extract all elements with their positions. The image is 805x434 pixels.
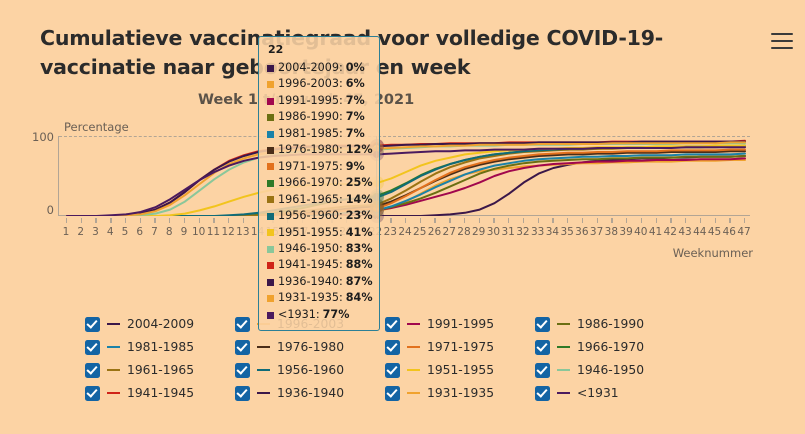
legend-item-1931-1935[interactable]: 1931-1935 bbox=[385, 382, 494, 404]
tooltip-row: 1961-1965:14% bbox=[267, 192, 372, 208]
x-tick-label: 11 bbox=[207, 226, 220, 238]
x-tick-mark bbox=[213, 218, 214, 223]
x-tick-mark bbox=[656, 218, 657, 223]
tooltip-color-swatch-icon bbox=[267, 312, 274, 319]
x-tick-mark bbox=[434, 218, 435, 223]
x-tick-mark bbox=[390, 218, 391, 223]
legend-item-lt1931[interactable]: <1931 bbox=[535, 382, 619, 404]
hover-tooltip: 22 2004-2009:0%1996-2003:6%1991-1995:7%1… bbox=[258, 36, 380, 331]
tooltip-row: 1936-1940:87% bbox=[267, 274, 372, 290]
tooltip-row: 1941-1945:88% bbox=[267, 257, 372, 273]
tooltip-series-name: 1931-1935: bbox=[278, 290, 343, 306]
tooltip-series-value: 88% bbox=[346, 257, 373, 273]
legend-item-label: 1946-1950 bbox=[577, 363, 644, 377]
tooltip-row: 1981-1985:7% bbox=[267, 126, 372, 142]
legend-item-1981-1985[interactable]: 1981-1985 bbox=[85, 336, 194, 358]
legend-checkbox[interactable] bbox=[385, 386, 400, 401]
tooltip-color-swatch-icon bbox=[267, 81, 274, 88]
tooltip-series-name: 1956-1960: bbox=[278, 208, 343, 224]
hamburger-icon[interactable] bbox=[771, 33, 793, 49]
x-tick-mark bbox=[405, 218, 406, 223]
tooltip-color-swatch-icon bbox=[267, 131, 274, 138]
x-tick-label: 33 bbox=[531, 226, 544, 238]
legend-item-1941-1945[interactable]: 1941-1945 bbox=[85, 382, 194, 404]
x-tick-mark bbox=[81, 218, 82, 223]
x-tick-mark bbox=[523, 218, 524, 223]
series-line bbox=[67, 158, 745, 216]
x-tick-mark bbox=[199, 218, 200, 223]
x-tick-mark bbox=[449, 218, 450, 223]
legend-color-swatch-icon bbox=[557, 323, 570, 325]
legend-color-swatch-icon bbox=[257, 392, 270, 394]
tooltip-series-value: 77% bbox=[323, 307, 350, 323]
legend-item-1946-1950[interactable]: 1946-1950 bbox=[535, 359, 644, 381]
x-tick-mark bbox=[582, 218, 583, 223]
tooltip-series-name: <1931: bbox=[278, 307, 320, 323]
x-tick-mark bbox=[597, 218, 598, 223]
x-tick-label: 44 bbox=[693, 226, 706, 238]
tooltip-series-name: 1971-1975: bbox=[278, 159, 343, 175]
tooltip-color-swatch-icon bbox=[267, 279, 274, 286]
tooltip-series-value: 41% bbox=[346, 225, 373, 241]
tooltip-series-value: 84% bbox=[346, 290, 373, 306]
legend-checkbox[interactable] bbox=[385, 317, 400, 332]
tooltip-series-name: 1986-1990: bbox=[278, 109, 343, 125]
x-tick-label: 34 bbox=[546, 226, 559, 238]
legend-color-swatch-icon bbox=[107, 323, 120, 325]
x-tick-label: 35 bbox=[560, 226, 573, 238]
tooltip-series-value: 7% bbox=[346, 126, 365, 142]
legend-checkbox[interactable] bbox=[385, 340, 400, 355]
tooltip-row: 1946-1950:83% bbox=[267, 241, 372, 257]
legend-item-label: <1931 bbox=[577, 386, 619, 400]
x-tick-label: 32 bbox=[516, 226, 529, 238]
x-tick-label: 31 bbox=[501, 226, 514, 238]
tooltip-series-name: 1976-1980: bbox=[278, 142, 343, 158]
tooltip-row: 1986-1990:7% bbox=[267, 109, 372, 125]
legend-item-1956-1960[interactable]: 1956-1960 bbox=[235, 359, 344, 381]
tooltip-color-swatch-icon bbox=[267, 65, 274, 72]
x-tick-mark bbox=[611, 218, 612, 223]
legend-item-label: 1971-1975 bbox=[427, 340, 494, 354]
legend-item-1961-1965[interactable]: 1961-1965 bbox=[85, 359, 194, 381]
legend-checkbox[interactable] bbox=[85, 386, 100, 401]
x-tick-mark bbox=[464, 218, 465, 223]
x-tick-label: 47 bbox=[737, 226, 750, 238]
x-tick-label: 28 bbox=[457, 226, 470, 238]
x-tick-mark bbox=[700, 218, 701, 223]
tooltip-series-name: 1996-2003: bbox=[278, 76, 343, 92]
tooltip-series-value: 9% bbox=[346, 159, 365, 175]
legend-color-swatch-icon bbox=[557, 392, 570, 394]
x-tick-label: 5 bbox=[122, 226, 129, 238]
legend-checkbox[interactable] bbox=[85, 317, 100, 332]
tooltip-row: 1951-1955:41% bbox=[267, 225, 372, 241]
vaccination-chart-page: Cumulatieve vaccinatiegraad voor volledi… bbox=[0, 0, 805, 434]
x-tick-mark bbox=[538, 218, 539, 223]
x-tick-label: 12 bbox=[221, 226, 234, 238]
tooltip-color-swatch-icon bbox=[267, 295, 274, 302]
legend-color-swatch-icon bbox=[407, 323, 420, 325]
x-tick-mark bbox=[729, 218, 730, 223]
tooltip-row: 1966-1970:25% bbox=[267, 175, 372, 191]
tooltip-color-swatch-icon bbox=[267, 229, 274, 236]
legend-color-swatch-icon bbox=[107, 392, 120, 394]
x-tick-label: 6 bbox=[136, 226, 143, 238]
legend-checkbox[interactable] bbox=[235, 317, 250, 332]
legend-item-label: 1991-1995 bbox=[427, 317, 494, 331]
x-tick-label: 46 bbox=[723, 226, 736, 238]
legend-checkbox[interactable] bbox=[235, 363, 250, 378]
legend-color-swatch-icon bbox=[407, 369, 420, 371]
tooltip-series-name: 1981-1985: bbox=[278, 126, 343, 142]
x-tick-mark bbox=[479, 218, 480, 223]
x-tick-label: 9 bbox=[181, 226, 188, 238]
tooltip-color-swatch-icon bbox=[267, 213, 274, 220]
x-tick-label: 3 bbox=[92, 226, 99, 238]
tooltip-series-value: 25% bbox=[346, 175, 373, 191]
x-tick-label: 41 bbox=[649, 226, 662, 238]
legend-color-swatch-icon bbox=[107, 346, 120, 348]
legend-item-2004-2009[interactable]: 2004-2009 bbox=[85, 313, 194, 335]
tooltip-series-name: 1961-1965: bbox=[278, 192, 343, 208]
tooltip-color-swatch-icon bbox=[267, 163, 274, 170]
x-tick-mark bbox=[66, 218, 67, 223]
series-line bbox=[67, 156, 745, 216]
legend-item-1991-1995[interactable]: 1991-1995 bbox=[385, 313, 494, 335]
tooltip-color-swatch-icon bbox=[267, 246, 274, 253]
series-line bbox=[67, 156, 745, 216]
y-tick-100: 100 bbox=[20, 130, 54, 144]
x-tick-mark bbox=[140, 218, 141, 223]
tooltip-row: 1991-1995:7% bbox=[267, 93, 372, 109]
x-tick-mark bbox=[154, 218, 155, 223]
plot-region bbox=[58, 136, 750, 216]
legend-item-1971-1975[interactable]: 1971-1975 bbox=[385, 336, 494, 358]
tooltip-series-name: 1936-1940: bbox=[278, 274, 343, 290]
legend-color-swatch-icon bbox=[257, 369, 270, 371]
x-tick-label: 27 bbox=[443, 226, 456, 238]
x-tick-label: 42 bbox=[664, 226, 677, 238]
legend-checkbox[interactable] bbox=[535, 363, 550, 378]
tooltip-row: 1976-1980:12% bbox=[267, 142, 372, 158]
tooltip-series-value: 6% bbox=[346, 76, 365, 92]
x-tick-label: 4 bbox=[107, 226, 114, 238]
legend-item-label: 1941-1945 bbox=[127, 386, 194, 400]
tooltip-color-swatch-icon bbox=[267, 98, 274, 105]
legend-item-1976-1980[interactable]: 1976-1980 bbox=[235, 336, 344, 358]
x-tick-mark bbox=[552, 218, 553, 223]
y-tick-0: 0 bbox=[20, 203, 54, 217]
tooltip-color-swatch-icon bbox=[267, 180, 274, 187]
legend-item-1936-1940[interactable]: 1936-1940 bbox=[235, 382, 344, 404]
x-tick-label: 7 bbox=[151, 226, 158, 238]
legend-item-label: 1931-1935 bbox=[427, 386, 494, 400]
x-tick-mark bbox=[243, 218, 244, 223]
tooltip-color-swatch-icon bbox=[267, 262, 274, 269]
x-tick-mark bbox=[95, 218, 96, 223]
tooltip-row: 1971-1975:9% bbox=[267, 159, 372, 175]
tooltip-series-name: 1966-1970: bbox=[278, 175, 343, 191]
x-tick-label: 8 bbox=[166, 226, 173, 238]
legend-checkbox[interactable] bbox=[385, 363, 400, 378]
x-tick-label: 37 bbox=[590, 226, 603, 238]
legend-checkbox[interactable] bbox=[535, 317, 550, 332]
page-title: Cumulatieve vaccinatiegraad voor volledi… bbox=[40, 24, 755, 82]
chart-legend: 2004-20091996-20031991-19951986-19901981… bbox=[0, 305, 805, 410]
tooltip-color-swatch-icon bbox=[267, 147, 274, 154]
tooltip-series-value: 87% bbox=[346, 274, 373, 290]
x-tick-label: 36 bbox=[575, 226, 588, 238]
x-tick-label: 13 bbox=[236, 226, 249, 238]
series-line bbox=[67, 160, 745, 216]
tooltip-color-swatch-icon bbox=[267, 114, 274, 121]
legend-item-1951-1955[interactable]: 1951-1955 bbox=[385, 359, 494, 381]
x-axis-label: Weeknummer bbox=[673, 246, 753, 260]
x-tick-label: 10 bbox=[192, 226, 205, 238]
x-tick-mark bbox=[169, 218, 170, 223]
legend-checkbox[interactable] bbox=[235, 386, 250, 401]
legend-item-label: 1961-1965 bbox=[127, 363, 194, 377]
legend-color-swatch-icon bbox=[407, 392, 420, 394]
x-tick-label: 29 bbox=[472, 226, 485, 238]
series-lines bbox=[59, 136, 751, 216]
x-tick-mark bbox=[493, 218, 494, 223]
tooltip-series-name: 1951-1955: bbox=[278, 225, 343, 241]
tooltip-row: 1956-1960:23% bbox=[267, 208, 372, 224]
y-axis-label: Percentage bbox=[64, 120, 129, 134]
tooltip-series-value: 83% bbox=[346, 241, 373, 257]
x-tick-mark bbox=[125, 218, 126, 223]
x-tick-label: 25 bbox=[413, 226, 426, 238]
chart-area: Percentage 100 0 12345678910111213141516… bbox=[0, 108, 805, 268]
x-tick-mark bbox=[110, 218, 111, 223]
tooltip-series-value: 7% bbox=[346, 93, 365, 109]
tooltip-series-value: 12% bbox=[346, 142, 373, 158]
legend-checkbox[interactable] bbox=[85, 340, 100, 355]
x-tick-label: 38 bbox=[605, 226, 618, 238]
x-tick-label: 1 bbox=[63, 226, 70, 238]
legend-checkbox[interactable] bbox=[535, 386, 550, 401]
x-tick-mark bbox=[567, 218, 568, 223]
legend-item-label: 1976-1980 bbox=[277, 340, 344, 354]
legend-item-label: 1966-1970 bbox=[577, 340, 644, 354]
legend-color-swatch-icon bbox=[257, 346, 270, 348]
tooltip-series-value: 14% bbox=[346, 192, 373, 208]
x-tick-label: 26 bbox=[428, 226, 441, 238]
legend-item-label: 2004-2009 bbox=[127, 317, 194, 331]
tooltip-series-value: 7% bbox=[346, 109, 365, 125]
x-tick-mark bbox=[228, 218, 229, 223]
x-tick-mark bbox=[184, 218, 185, 223]
tooltip-series-value: 23% bbox=[346, 208, 373, 224]
x-tick-mark bbox=[508, 218, 509, 223]
tooltip-series-name: 2004-2009: bbox=[278, 60, 343, 76]
tooltip-row: 2004-2009:0% bbox=[267, 60, 372, 76]
tooltip-series-value: 0% bbox=[346, 60, 365, 76]
legend-item-label: 1951-1955 bbox=[427, 363, 494, 377]
x-tick-mark bbox=[626, 218, 627, 223]
legend-color-swatch-icon bbox=[107, 369, 120, 371]
x-tick-label: 24 bbox=[398, 226, 411, 238]
legend-checkbox[interactable] bbox=[535, 340, 550, 355]
legend-item-1986-1990[interactable]: 1986-1990 bbox=[535, 313, 644, 335]
legend-item-1966-1970[interactable]: 1966-1970 bbox=[535, 336, 644, 358]
tooltip-series-name: 1991-1995: bbox=[278, 93, 343, 109]
x-tick-mark bbox=[420, 218, 421, 223]
tooltip-series-name: 1946-1950: bbox=[278, 241, 343, 257]
tooltip-color-swatch-icon bbox=[267, 196, 274, 203]
x-tick-label: 23 bbox=[384, 226, 397, 238]
legend-item-label: 1986-1990 bbox=[577, 317, 644, 331]
x-tick-label: 43 bbox=[678, 226, 691, 238]
tooltip-series-name: 1941-1945: bbox=[278, 257, 343, 273]
tooltip-row: 1931-1935:84% bbox=[267, 290, 372, 306]
x-tick-mark bbox=[641, 218, 642, 223]
legend-color-swatch-icon bbox=[557, 369, 570, 371]
legend-item-label: 1936-1940 bbox=[277, 386, 344, 400]
legend-item-label: 1981-1985 bbox=[127, 340, 194, 354]
x-tick-label: 39 bbox=[619, 226, 632, 238]
x-tick-label: 45 bbox=[708, 226, 721, 238]
x-tick-label: 30 bbox=[487, 226, 500, 238]
x-axis-ticks: 1234567891011121314151617181920212223242… bbox=[58, 218, 750, 244]
tooltip-row: <1931:77% bbox=[267, 307, 372, 323]
legend-color-swatch-icon bbox=[407, 346, 420, 348]
x-tick-mark bbox=[744, 218, 745, 223]
x-tick-mark bbox=[670, 218, 671, 223]
x-tick-label: 40 bbox=[634, 226, 647, 238]
tooltip-week-header: 22 bbox=[268, 43, 372, 56]
legend-item-label: 1956-1960 bbox=[277, 363, 344, 377]
legend-checkbox[interactable] bbox=[235, 340, 250, 355]
legend-color-swatch-icon bbox=[557, 346, 570, 348]
x-tick-label: 2 bbox=[77, 226, 84, 238]
legend-checkbox[interactable] bbox=[85, 363, 100, 378]
x-tick-mark bbox=[685, 218, 686, 223]
x-tick-mark bbox=[715, 218, 716, 223]
tooltip-row: 1996-2003:6% bbox=[267, 76, 372, 92]
